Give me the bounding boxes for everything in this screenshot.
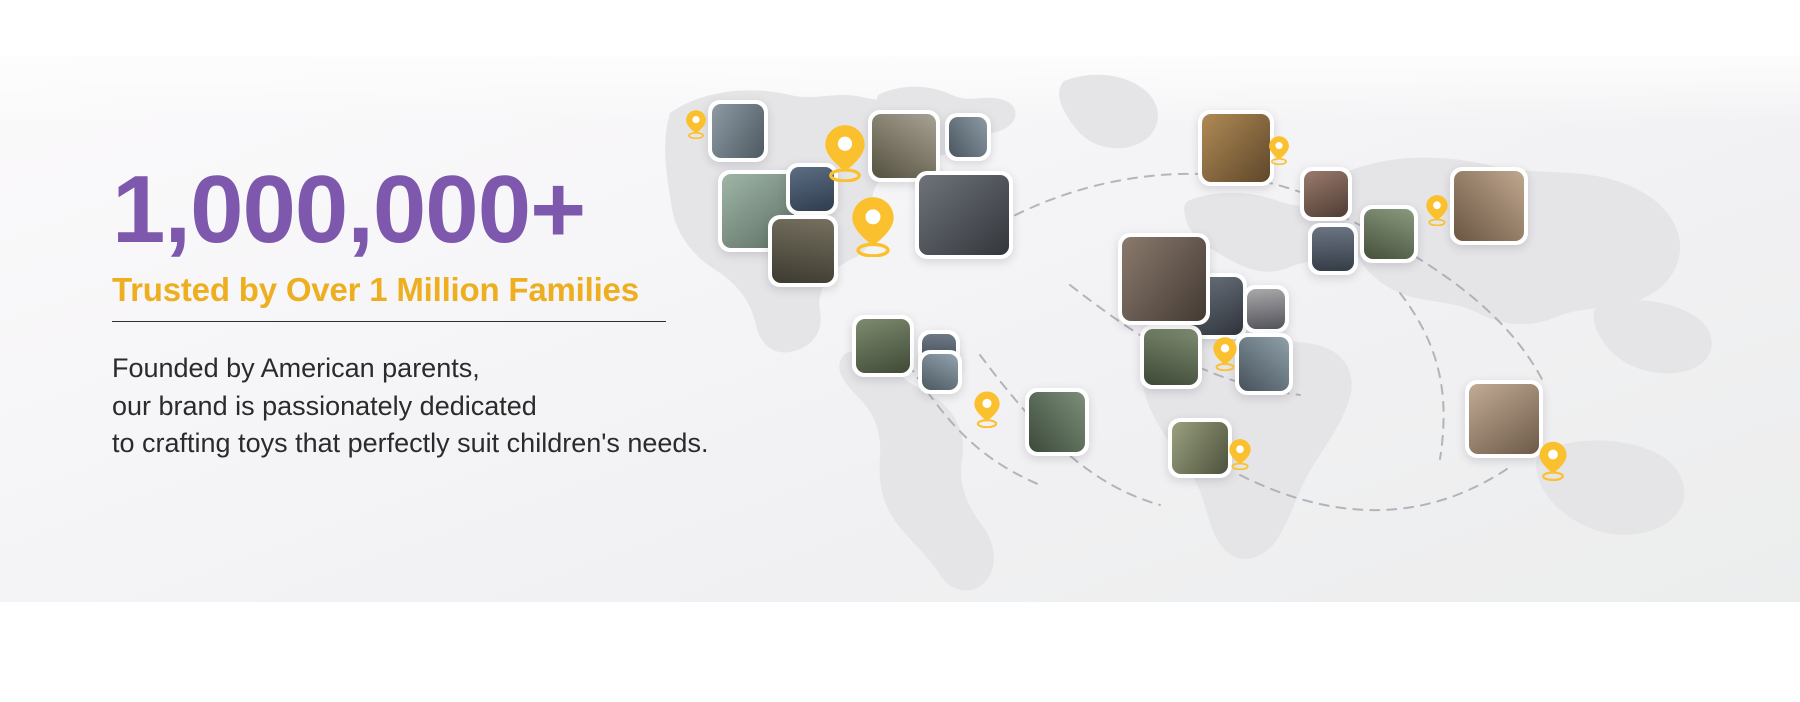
customer-photo-thumbnail — [1172, 422, 1228, 474]
map-pin-3[interactable] — [850, 195, 896, 257]
map-pin-1[interactable] — [685, 109, 707, 139]
photo-card-20[interactable] — [1140, 325, 1202, 389]
customer-photo-thumbnail — [949, 117, 987, 157]
photo-card-13[interactable] — [1300, 167, 1352, 221]
photo-card-4[interactable] — [768, 215, 838, 287]
map-pin-9[interactable] — [1538, 440, 1568, 481]
photo-card-14[interactable] — [1308, 223, 1358, 275]
photo-card-1[interactable] — [708, 100, 768, 162]
world-map-collage — [640, 55, 1800, 602]
photo-card-22[interactable] — [1168, 418, 1232, 478]
photo-card-12[interactable] — [1198, 110, 1274, 186]
customer-photo-thumbnail — [1144, 329, 1198, 385]
photo-card-16[interactable] — [1450, 167, 1528, 245]
customer-photo-thumbnail — [712, 104, 764, 158]
photo-card-21[interactable] — [1235, 333, 1293, 395]
customer-photo-thumbnail — [1247, 289, 1285, 329]
customer-photo-thumbnail — [856, 319, 910, 373]
customer-photo-thumbnail — [1029, 392, 1085, 452]
photo-card-19[interactable] — [1243, 285, 1289, 333]
customer-photo-thumbnail — [1469, 384, 1539, 454]
map-pin-4[interactable] — [973, 390, 1001, 428]
subtitle: Trusted by Over 1 Million Families — [112, 271, 666, 309]
customer-photo-thumbnail — [1122, 237, 1206, 321]
customer-photo-thumbnail — [1202, 114, 1270, 182]
photo-card-7[interactable] — [915, 171, 1013, 259]
photo-card-11[interactable] — [1025, 388, 1089, 456]
photo-card-10[interactable] — [918, 350, 962, 394]
photo-card-17[interactable] — [1118, 233, 1210, 325]
stats-banner: 1,000,000+ Trusted by Over 1 Million Fam… — [0, 0, 1800, 702]
map-pin-7[interactable] — [1268, 135, 1290, 165]
customer-photo-thumbnail — [772, 219, 834, 283]
customer-photo-thumbnail — [872, 114, 936, 178]
customer-photo-thumbnail — [1364, 209, 1414, 259]
photo-card-15[interactable] — [1360, 205, 1418, 263]
customer-photo-thumbnail — [1239, 337, 1289, 391]
map-pin-5[interactable] — [1212, 336, 1238, 371]
customer-photo-thumbnail — [1312, 227, 1354, 271]
customer-photo-thumbnail — [1454, 171, 1524, 241]
customer-photo-thumbnail — [919, 175, 1009, 255]
photo-card-6[interactable] — [945, 113, 991, 161]
customer-photo-thumbnail — [1304, 171, 1348, 217]
subheadline-underline-rule: Trusted by Over 1 Million Families — [112, 271, 666, 322]
map-pin-2[interactable] — [823, 123, 867, 182]
customer-photo-thumbnail — [922, 354, 958, 390]
map-pin-8[interactable] — [1425, 194, 1449, 226]
photo-card-23[interactable] — [1465, 380, 1543, 458]
photo-card-8[interactable] — [852, 315, 914, 377]
map-pin-6[interactable] — [1228, 438, 1252, 470]
